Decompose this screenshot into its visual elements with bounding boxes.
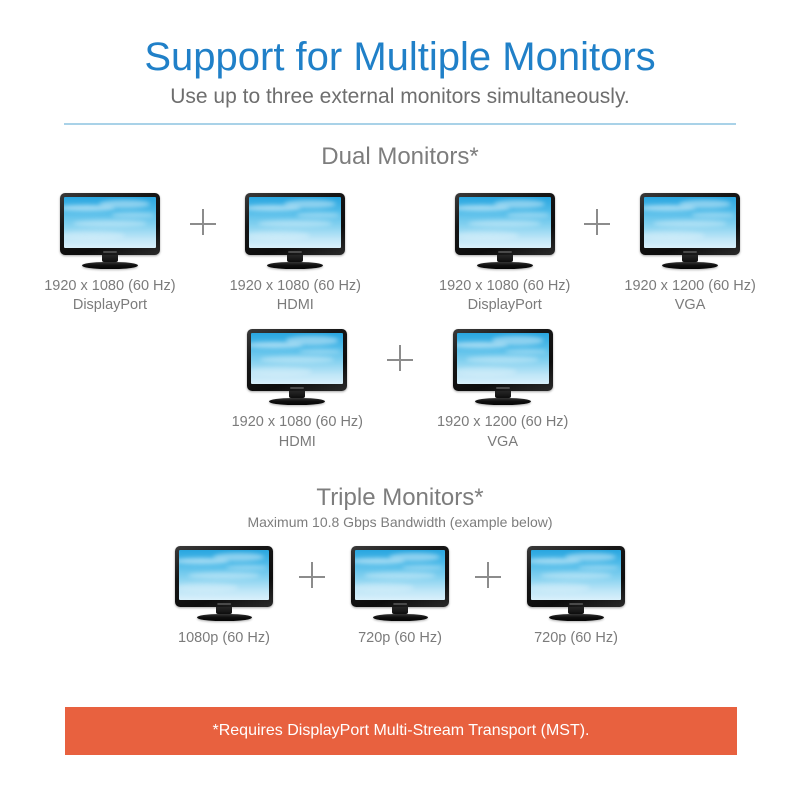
monitor-cell: 720p (60 Hz) bbox=[527, 546, 625, 648]
cloud-shape bbox=[251, 367, 312, 376]
footnote-text: *Requires DisplayPort Multi-Stream Trans… bbox=[213, 722, 590, 740]
monitor-cell: 1920 x 1080 (60 Hz) DisplayPort bbox=[439, 193, 570, 315]
monitor-bezel bbox=[351, 546, 449, 607]
cloud-shape bbox=[457, 367, 518, 376]
monitor-resolution: 1080p (60 Hz) bbox=[178, 629, 270, 648]
monitor-graphic bbox=[60, 193, 160, 269]
monitor-stand-neck bbox=[568, 607, 584, 614]
monitor-brand-logo bbox=[290, 387, 304, 389]
monitor-stand-base bbox=[197, 614, 252, 621]
cloud-shape bbox=[644, 231, 705, 240]
monitor-caption: 1920 x 1080 (60 Hz) HDMI bbox=[232, 413, 363, 451]
monitor-resolution: 720p (60 Hz) bbox=[534, 629, 618, 648]
monitor-caption: 720p (60 Hz) bbox=[534, 629, 618, 648]
monitor-graphic bbox=[640, 193, 740, 269]
cloud-shape bbox=[260, 356, 334, 363]
cloud-shape bbox=[653, 220, 727, 227]
monitor-port: HDMI bbox=[232, 433, 363, 452]
monitor-bezel bbox=[640, 193, 740, 255]
monitor-graphic bbox=[455, 193, 555, 269]
triple-monitors-row: 1080p (60 Hz) bbox=[0, 546, 800, 648]
monitor-cell: 1920 x 1080 (60 Hz) DisplayPort bbox=[44, 193, 175, 315]
monitor-resolution: 1920 x 1200 (60 Hz) bbox=[437, 413, 568, 432]
plus-icon bbox=[582, 209, 612, 239]
monitor-cell: 720p (60 Hz) bbox=[351, 546, 449, 648]
monitor-resolution: 1920 x 1080 (60 Hz) bbox=[439, 277, 570, 296]
plus-icon bbox=[188, 209, 218, 239]
monitor-screen bbox=[251, 333, 343, 384]
triple-monitors-note: Maximum 10.8 Gbps Bandwidth (example bel… bbox=[0, 514, 800, 530]
monitor-brand-logo bbox=[498, 251, 512, 253]
cloud-shape bbox=[249, 231, 310, 240]
monitor-stand-base bbox=[477, 262, 533, 269]
monitor-stand-neck bbox=[392, 607, 408, 614]
monitor-port: DisplayPort bbox=[44, 296, 175, 315]
monitor-caption: 1920 x 1200 (60 Hz) VGA bbox=[437, 413, 568, 451]
cloud-shape bbox=[355, 583, 414, 592]
cloud-shape bbox=[286, 336, 338, 344]
monitor-resolution: 1920 x 1080 (60 Hz) bbox=[44, 277, 175, 296]
cloud-shape bbox=[578, 565, 619, 570]
monitor-bezel bbox=[247, 329, 347, 391]
cloud-shape bbox=[73, 220, 147, 227]
monitor-port: VGA bbox=[624, 296, 755, 315]
cloud-shape bbox=[179, 583, 238, 592]
cloud-shape bbox=[226, 565, 267, 570]
monitor-stand-neck bbox=[287, 255, 303, 262]
monitor-stand-neck bbox=[102, 255, 118, 262]
dual-pair-1: 1920 x 1080 (60 Hz) DisplayPort bbox=[44, 193, 361, 315]
dual-monitors-section: Dual Monitors* bbox=[0, 143, 800, 452]
monitor-graphic bbox=[247, 329, 347, 405]
plus-icon bbox=[297, 562, 327, 592]
cloud-shape bbox=[213, 553, 263, 561]
cloud-shape bbox=[466, 356, 540, 363]
cloud-shape bbox=[299, 349, 341, 354]
monitor-caption: 1920 x 1080 (60 Hz) HDMI bbox=[230, 277, 361, 315]
cloud-shape bbox=[297, 212, 339, 217]
triple-monitors-section: Triple Monitors* Maximum 10.8 Gbps Bandw… bbox=[0, 484, 800, 648]
cloud-shape bbox=[188, 572, 260, 579]
cloud-shape bbox=[507, 212, 549, 217]
page-subtitle: Use up to three external monitors simult… bbox=[0, 84, 800, 109]
dual-pair-3: 1920 x 1080 (60 Hz) HDMI bbox=[232, 329, 569, 451]
dual-monitors-row-2: 1920 x 1080 (60 Hz) HDMI bbox=[0, 329, 800, 451]
cloud-shape bbox=[492, 336, 544, 344]
triple-monitors-heading: Triple Monitors* bbox=[0, 484, 800, 512]
monitor-brand-logo bbox=[569, 603, 583, 605]
monitor-port: VGA bbox=[437, 433, 568, 452]
cloud-shape bbox=[64, 231, 125, 240]
cloud-shape bbox=[364, 572, 436, 579]
page-header: Support for Multiple Monitors Use up to … bbox=[0, 0, 800, 125]
monitor-brand-logo bbox=[217, 603, 231, 605]
monitor-brand-logo bbox=[103, 251, 117, 253]
monitor-cell: 1920 x 1200 (60 Hz) VGA bbox=[624, 193, 755, 315]
monitor-brand-logo bbox=[496, 387, 510, 389]
monitor-stand-base bbox=[475, 398, 531, 405]
monitor-caption: 720p (60 Hz) bbox=[358, 629, 442, 648]
monitor-graphic bbox=[453, 329, 553, 405]
cloud-shape bbox=[692, 212, 734, 217]
monitor-brand-logo bbox=[393, 603, 407, 605]
monitor-screen bbox=[355, 550, 445, 600]
cloud-shape bbox=[505, 349, 547, 354]
cloud-shape bbox=[402, 565, 443, 570]
monitor-bezel bbox=[453, 329, 553, 391]
monitor-stand-base bbox=[549, 614, 604, 621]
monitor-stand-base bbox=[269, 398, 325, 405]
monitor-stand-base bbox=[373, 614, 428, 621]
cloud-shape bbox=[112, 212, 154, 217]
monitor-stand-base bbox=[267, 262, 323, 269]
monitor-stand-neck bbox=[495, 391, 511, 398]
monitor-port: HDMI bbox=[230, 296, 361, 315]
monitor-bezel bbox=[175, 546, 273, 607]
monitor-resolution: 1920 x 1080 (60 Hz) bbox=[232, 413, 363, 432]
page-title: Support for Multiple Monitors bbox=[0, 36, 800, 78]
monitor-caption: 1920 x 1080 (60 Hz) DisplayPort bbox=[44, 277, 175, 315]
monitor-stand-neck bbox=[682, 255, 698, 262]
dual-monitors-heading: Dual Monitors* bbox=[0, 143, 800, 171]
monitor-cell: 1080p (60 Hz) bbox=[175, 546, 273, 648]
monitor-screen bbox=[249, 197, 341, 248]
monitor-screen bbox=[644, 197, 736, 248]
monitor-screen bbox=[459, 197, 551, 248]
monitor-cell: 1920 x 1200 (60 Hz) VGA bbox=[437, 329, 568, 451]
cloud-shape bbox=[459, 231, 520, 240]
monitor-caption: 1920 x 1080 (60 Hz) DisplayPort bbox=[439, 277, 570, 315]
monitor-caption: 1920 x 1200 (60 Hz) VGA bbox=[624, 277, 755, 315]
monitor-port: DisplayPort bbox=[439, 296, 570, 315]
monitor-brand-logo bbox=[683, 251, 697, 253]
monitor-graphic bbox=[175, 546, 273, 621]
plus-icon bbox=[473, 562, 503, 592]
monitor-cell: 1920 x 1080 (60 Hz) HDMI bbox=[232, 329, 363, 451]
monitor-caption: 1080p (60 Hz) bbox=[178, 629, 270, 648]
monitor-stand-neck bbox=[497, 255, 513, 262]
monitor-bezel bbox=[245, 193, 345, 255]
infographic-page: Support for Multiple Monitors Use up to … bbox=[0, 0, 800, 800]
cloud-shape bbox=[258, 220, 332, 227]
header-divider bbox=[64, 123, 736, 125]
monitor-resolution: 720p (60 Hz) bbox=[358, 629, 442, 648]
monitor-resolution: 1920 x 1200 (60 Hz) bbox=[624, 277, 755, 296]
monitor-stand-neck bbox=[216, 607, 232, 614]
monitor-graphic bbox=[527, 546, 625, 621]
monitor-graphic bbox=[351, 546, 449, 621]
cloud-shape bbox=[531, 583, 590, 592]
monitor-screen bbox=[457, 333, 549, 384]
cloud-shape bbox=[565, 553, 615, 561]
footnote-banner: *Requires DisplayPort Multi-Stream Trans… bbox=[65, 707, 737, 755]
monitor-bezel bbox=[60, 193, 160, 255]
plus-icon bbox=[385, 345, 415, 375]
monitor-stand-base bbox=[82, 262, 138, 269]
cloud-shape bbox=[540, 572, 612, 579]
monitor-bezel bbox=[455, 193, 555, 255]
monitor-screen bbox=[531, 550, 621, 600]
monitor-resolution: 1920 x 1080 (60 Hz) bbox=[230, 277, 361, 296]
monitor-screen bbox=[64, 197, 156, 248]
cloud-shape bbox=[468, 220, 542, 227]
monitor-cell: 1920 x 1080 (60 Hz) HDMI bbox=[230, 193, 361, 315]
monitor-bezel bbox=[527, 546, 625, 607]
cloud-shape bbox=[389, 553, 439, 561]
monitor-stand-neck bbox=[289, 391, 305, 398]
monitor-graphic bbox=[245, 193, 345, 269]
monitor-screen bbox=[179, 550, 269, 600]
dual-monitors-row-1: 1920 x 1080 (60 Hz) DisplayPort bbox=[0, 193, 800, 315]
monitor-brand-logo bbox=[288, 251, 302, 253]
monitor-stand-base bbox=[662, 262, 718, 269]
dual-pair-2: 1920 x 1080 (60 Hz) DisplayPort bbox=[439, 193, 756, 315]
